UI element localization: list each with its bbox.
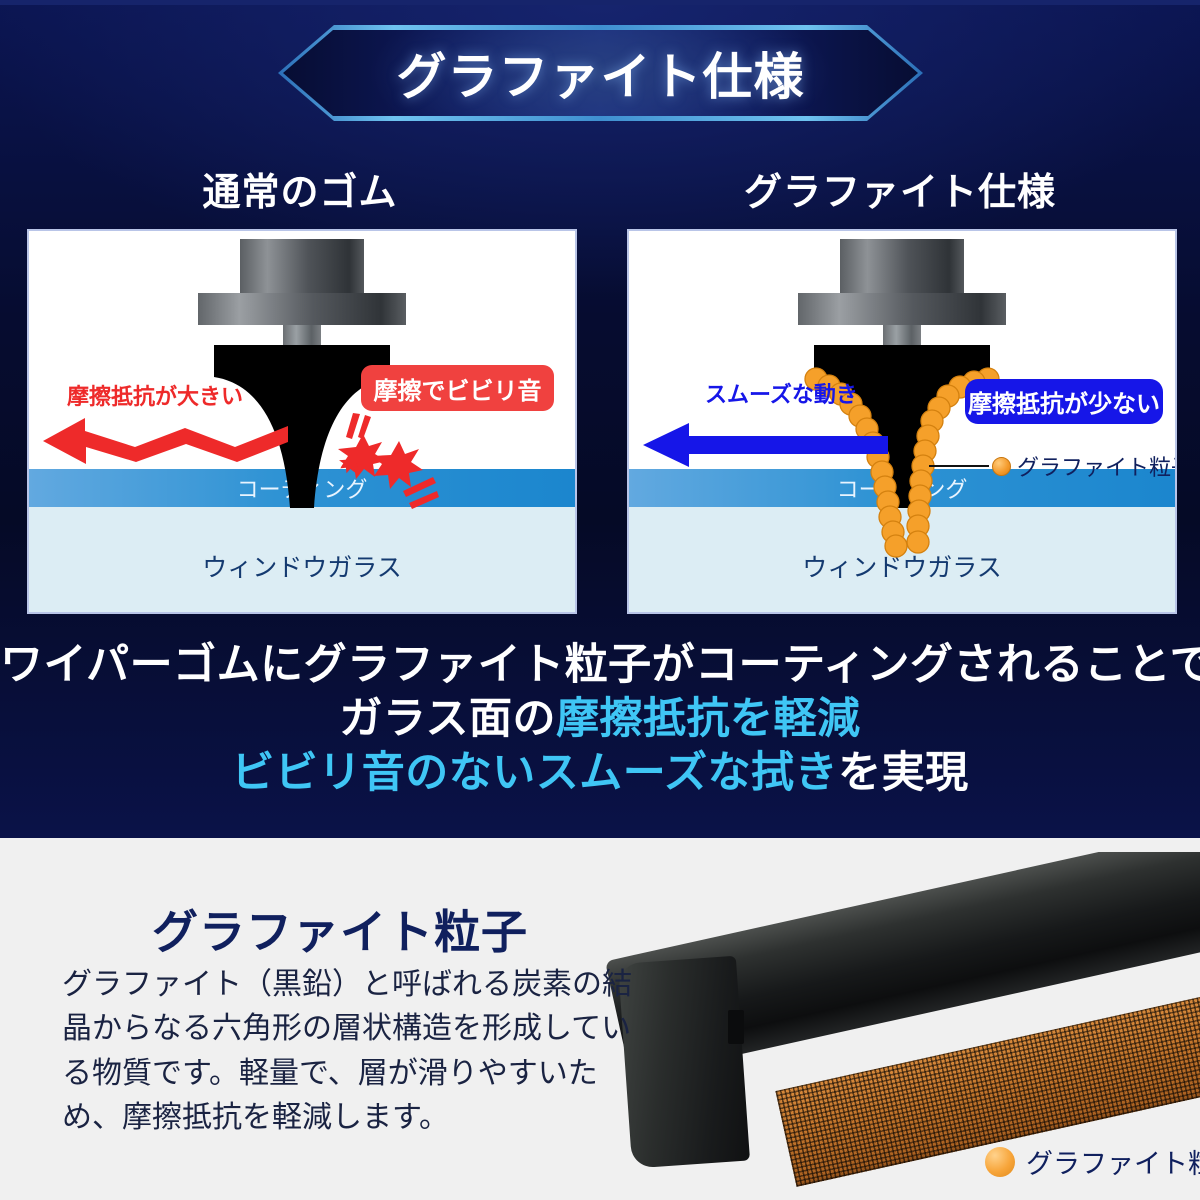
- wiper-head-flange: [798, 293, 1006, 325]
- banner-title: グラファイト仕様: [278, 25, 923, 121]
- left-panel-header: 通常のゴム: [27, 160, 573, 216]
- wiper-head-flange: [198, 293, 406, 325]
- summary-line-3: ビビリ音のないスムーズな拭きを実現: [0, 746, 1200, 800]
- callout-leader-line: [929, 465, 989, 467]
- summary-text-block: ワイパーゴムにグラファイト粒子がコーティングされることで ガラス面の摩擦抵抗を軽…: [0, 638, 1200, 801]
- low-friction-badge: 摩擦抵抗が少ない: [965, 379, 1163, 424]
- graphite-particle-callout: グラファイト粒子: [929, 453, 1167, 479]
- noise-badge: 摩擦でビビリ音: [361, 365, 554, 411]
- legend-label: グラファイト粒子: [1026, 1142, 1200, 1181]
- wiper-head-top: [240, 239, 364, 293]
- bottom-section-title: グラファイト粒子: [152, 896, 528, 962]
- left-diagram-panel: ウィンドウガラス コーティング 摩擦抵抗が大きい 摩擦でビビリ音: [27, 229, 577, 614]
- summary-line-3-highlight: ビビリ音のないスムーズな拭き: [231, 749, 838, 797]
- friction-arrow-label: 摩擦抵抗が大きい: [67, 379, 243, 411]
- summary-line-2: ガラス面の摩擦抵抗を軽減: [0, 692, 1200, 746]
- spark-burst-icon: [329, 409, 439, 514]
- glass-label: ウィンドウガラス: [629, 548, 1175, 584]
- top-edge-strip: [0, 0, 1200, 5]
- summary-line-1: ワイパーゴムにグラファイト粒子がコーティングされることで: [0, 638, 1200, 692]
- friction-arrow-red: [43, 416, 288, 466]
- graphite-particle-icon: [992, 457, 1011, 476]
- smooth-arrow-blue: [643, 423, 888, 467]
- bottom-section-body: グラファイト（黒鉛）と呼ばれる炭素の結晶からなる六角形の層状構造を形成している物…: [62, 963, 640, 1141]
- summary-line-2-plain: ガラス面の: [339, 695, 556, 743]
- summary-line-2-highlight: 摩擦抵抗を軽減: [556, 695, 861, 743]
- wiper-head-neck: [283, 325, 321, 345]
- wiper-head-top: [840, 239, 964, 293]
- title-banner: グラファイト仕様: [278, 25, 923, 121]
- graphite-particle-icon: [985, 1147, 1015, 1177]
- right-panel-header: グラファイト仕様: [627, 160, 1173, 216]
- smooth-arrow-label: スムーズな動き: [705, 377, 858, 409]
- graphite-legend: グラファイト粒子: [985, 1142, 1200, 1181]
- summary-line-3-plain: を実現: [838, 749, 969, 797]
- right-diagram-panel: ウィンドウガラス コーティング: [627, 229, 1177, 614]
- glass-label: ウィンドウガラス: [29, 548, 575, 584]
- wiper-head-neck: [883, 325, 921, 345]
- callout-label: グラファイト粒子: [1017, 450, 1177, 482]
- infographic-page: グラファイト仕様 通常のゴム グラファイト仕様 ウィンドウガラス コーティング …: [0, 0, 1200, 1200]
- blade-notch: [728, 1010, 744, 1044]
